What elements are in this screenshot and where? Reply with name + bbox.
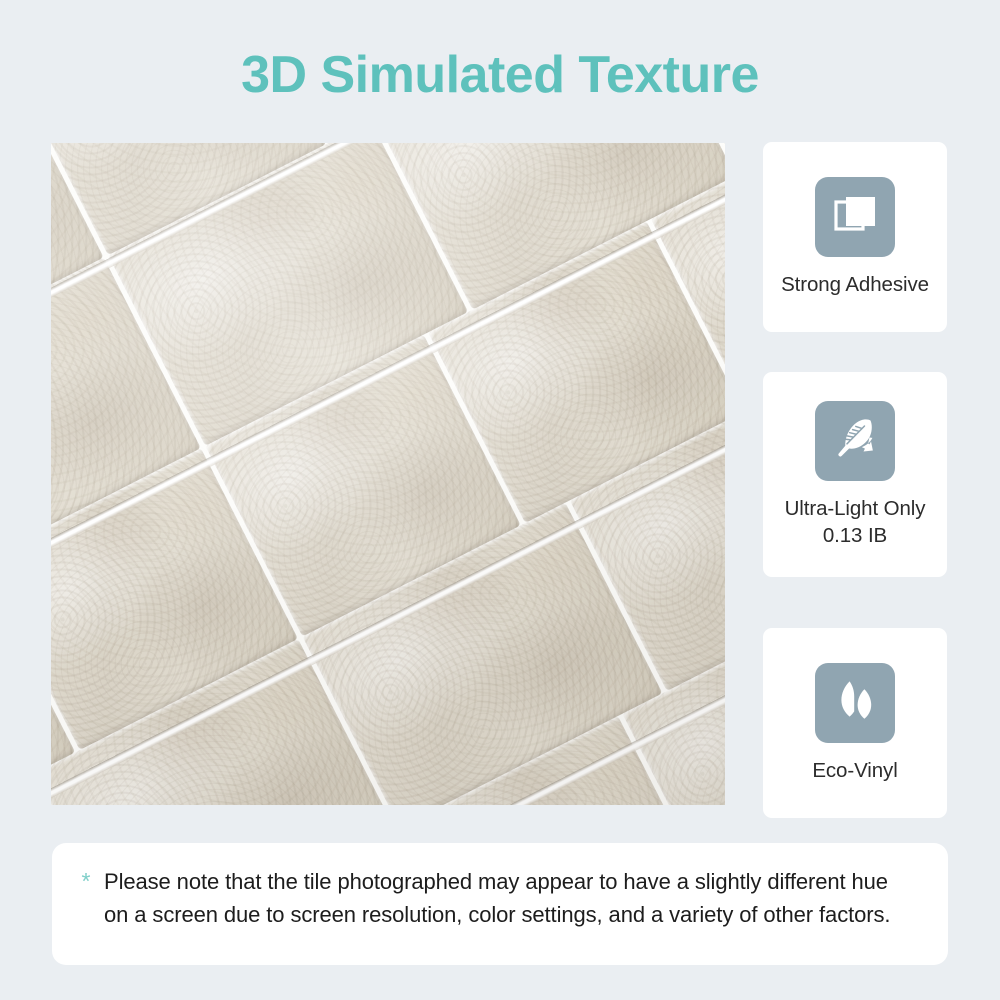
feature-label: Eco-Vinyl (808, 757, 901, 784)
feature-label-line-2: 0.13 IB (823, 524, 887, 547)
tile-texture-photo (51, 143, 725, 805)
feature-label: Strong Adhesive (777, 271, 933, 298)
layered-squares-icon (831, 190, 879, 243)
footer-disclaimer-card: * Please note that the tile photographed… (52, 843, 948, 965)
feature-label-line-1: Ultra-Light Only (785, 497, 926, 520)
tile-grid (51, 143, 725, 805)
leaves-icon (831, 676, 879, 729)
feature-label-line-1: Eco-Vinyl (812, 759, 897, 782)
feather-icon (830, 413, 880, 468)
feature-card-ultra-light[interactable]: Ultra-Light Only 0.13 IB (763, 372, 947, 577)
feature-icon-box (815, 177, 895, 257)
page-title: 3D Simulated Texture (0, 44, 1000, 106)
asterisk-icon: * (74, 865, 98, 896)
feature-icon-box (815, 663, 895, 743)
feature-label-line-1: Strong Adhesive (781, 273, 929, 296)
feature-icon-box (815, 401, 895, 481)
feature-label: Ultra-Light Only 0.13 IB (781, 495, 930, 549)
feature-card-eco-vinyl[interactable]: Eco-Vinyl (763, 628, 947, 818)
feature-card-strong-adhesive[interactable]: Strong Adhesive (763, 142, 947, 332)
footer-disclaimer-text: Please note that the tile photographed m… (98, 865, 914, 931)
